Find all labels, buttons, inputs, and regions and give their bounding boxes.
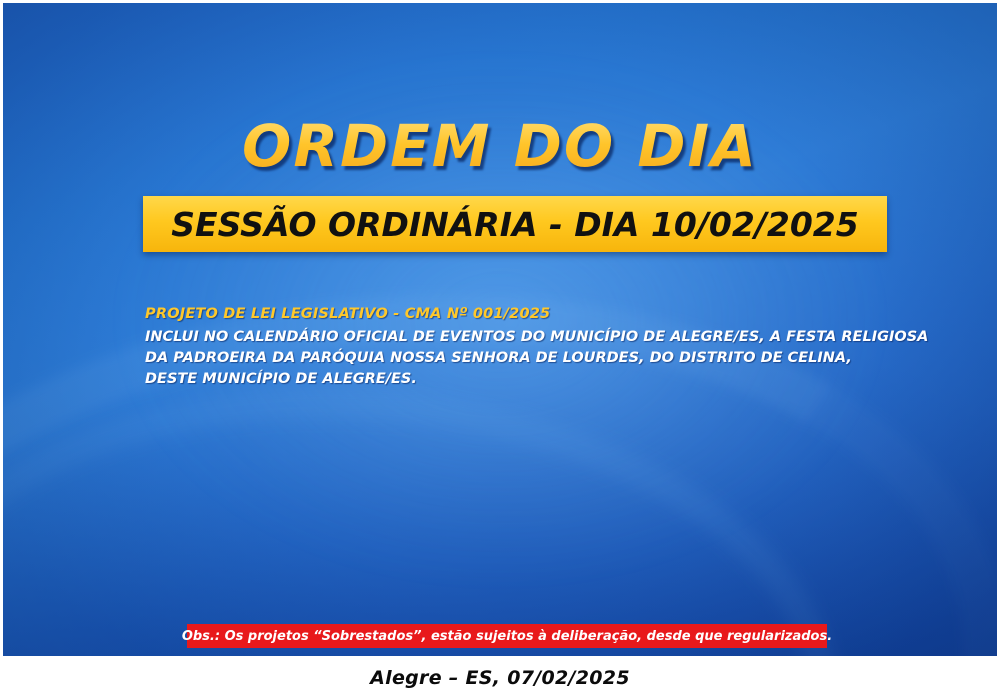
slide-edge-top [0, 0, 1000, 3]
session-banner-text: SESSÃO ORDINÁRIA - DIA 10/02/2025 [171, 205, 858, 244]
agenda-item-line: DA PADROEIRA DA PARÓQUIA NOSSA SENHORA D… [145, 348, 905, 369]
agenda-item-line: INCLUI NO CALENDÁRIO OFICIAL DE EVENTOS … [145, 327, 905, 348]
agenda-item-body: INCLUI NO CALENDÁRIO OFICIAL DE EVENTOS … [145, 327, 905, 390]
agenda-item: PROJETO DE LEI LEGISLATIVO - CMA Nº 001/… [145, 306, 905, 390]
footer-strip: Alegre – ES, 07/02/2025 [0, 656, 1000, 700]
place-date-text: Alegre – ES, 07/02/2025 [370, 667, 630, 689]
page-title: ORDEM DO DIA [0, 112, 1000, 180]
observation-banner: Obs.: Os projetos “Sobrestados”, estão s… [187, 624, 827, 648]
slide-edge-left [0, 0, 3, 700]
agenda-item-line: DESTE MUNICÍPIO DE ALEGRE/ES. [145, 369, 905, 390]
observation-text: Obs.: Os projetos “Sobrestados”, estão s… [182, 629, 832, 644]
session-banner: SESSÃO ORDINÁRIA - DIA 10/02/2025 [143, 196, 887, 252]
agenda-item-list: PROJETO DE LEI LEGISLATIVO - CMA Nº 001/… [145, 306, 905, 390]
slide-canvas: ORDEM DO DIA SESSÃO ORDINÁRIA - DIA 10/0… [0, 0, 1000, 700]
agenda-item-heading: PROJETO DE LEI LEGISLATIVO - CMA Nº 001/… [145, 306, 905, 322]
